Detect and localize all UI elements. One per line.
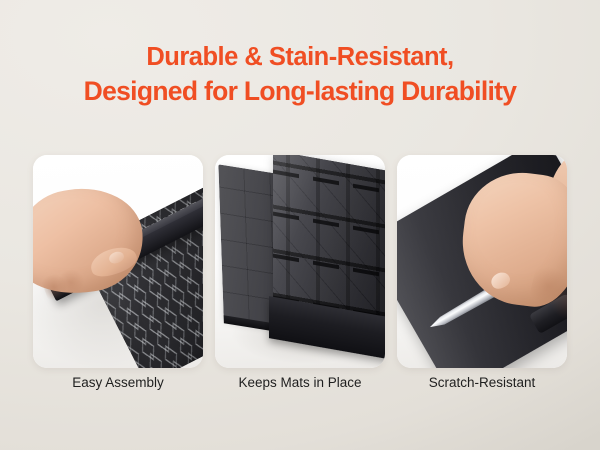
headline-line-1: Durable & Stain-Resistant, <box>0 40 600 74</box>
feature-card-scratch-resistant <box>397 155 567 368</box>
feature-card-row <box>33 155 567 368</box>
caption-easy-assembly: Easy Assembly <box>33 374 203 391</box>
product-feature-infographic: Durable & Stain-Resistant, Designed for … <box>0 0 600 450</box>
feature-photo-easy-assembly <box>33 155 203 368</box>
feature-photo-scratch-resistant <box>397 155 567 368</box>
feature-caption-row: Easy Assembly Keeps Mats in Place Scratc… <box>33 374 567 391</box>
feature-card-keeps-mats-in-place <box>215 155 385 368</box>
headline-line-2: Designed for Long-lasting Durability <box>0 74 600 108</box>
feature-card-easy-assembly <box>33 155 203 368</box>
feature-photo-keeps-mats-in-place <box>215 155 385 368</box>
page-title: Durable & Stain-Resistant, Designed for … <box>0 40 600 108</box>
caption-scratch-resistant: Scratch-Resistant <box>397 374 567 391</box>
caption-keeps-mats-in-place: Keeps Mats in Place <box>215 374 385 391</box>
